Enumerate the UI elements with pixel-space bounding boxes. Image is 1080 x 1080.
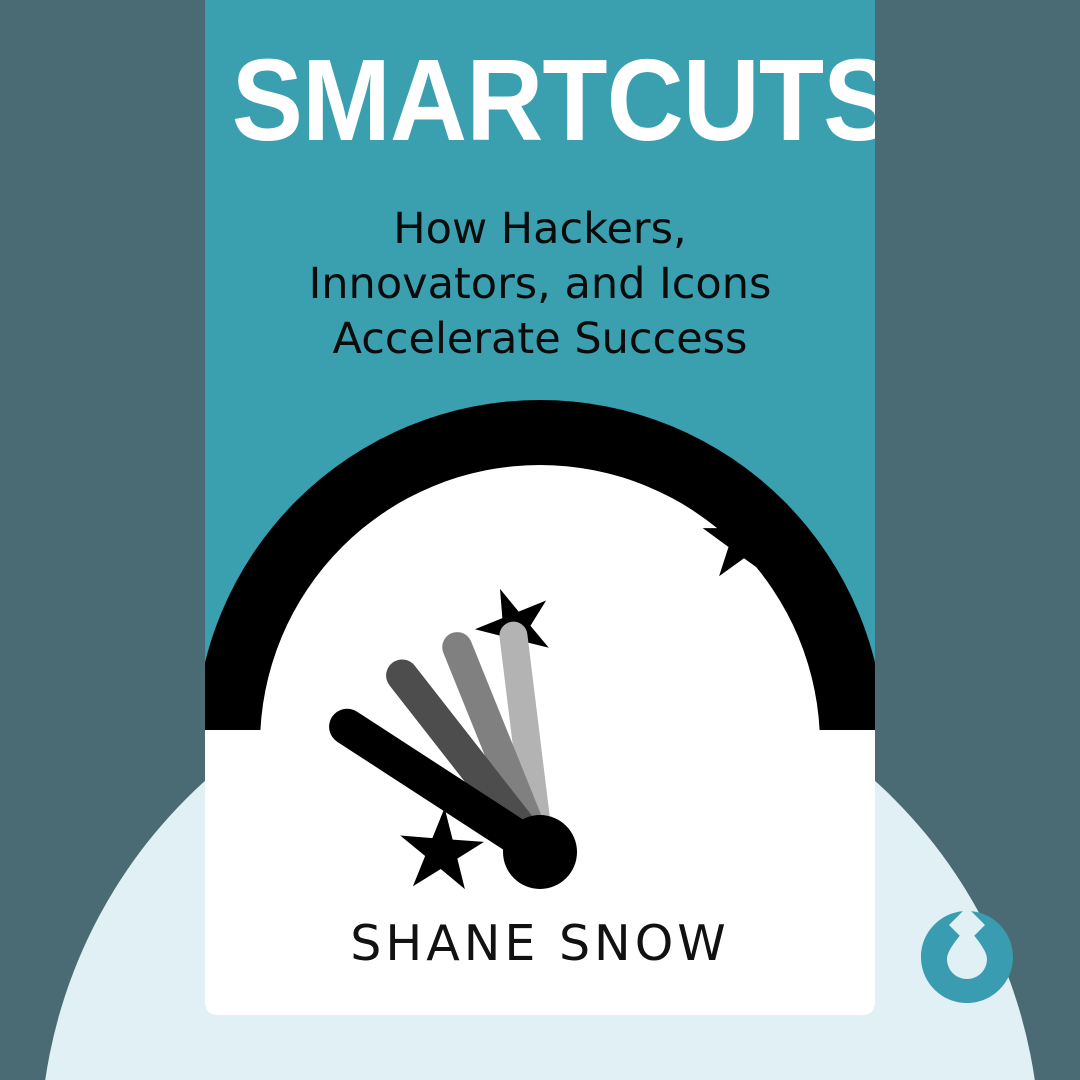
subtitle-line-2: Innovators, and Icons — [240, 257, 840, 312]
blinkist-logo — [915, 905, 1019, 1009]
book-cover-canvas: SMARTCUTS How Hackers, Innovators, and I… — [0, 0, 1080, 1080]
book-title: SMARTCUTS — [232, 42, 848, 158]
subtitle-line-1: How Hackers, — [240, 202, 840, 257]
clock-center-hub — [503, 815, 577, 889]
subtitle-line-3: Accelerate Success — [240, 312, 840, 367]
book-cover-card: SMARTCUTS How Hackers, Innovators, and I… — [205, 0, 875, 1015]
author-name: SHANE SNOW — [205, 915, 875, 972]
book-subtitle: How Hackers, Innovators, and Icons Accel… — [240, 202, 840, 367]
